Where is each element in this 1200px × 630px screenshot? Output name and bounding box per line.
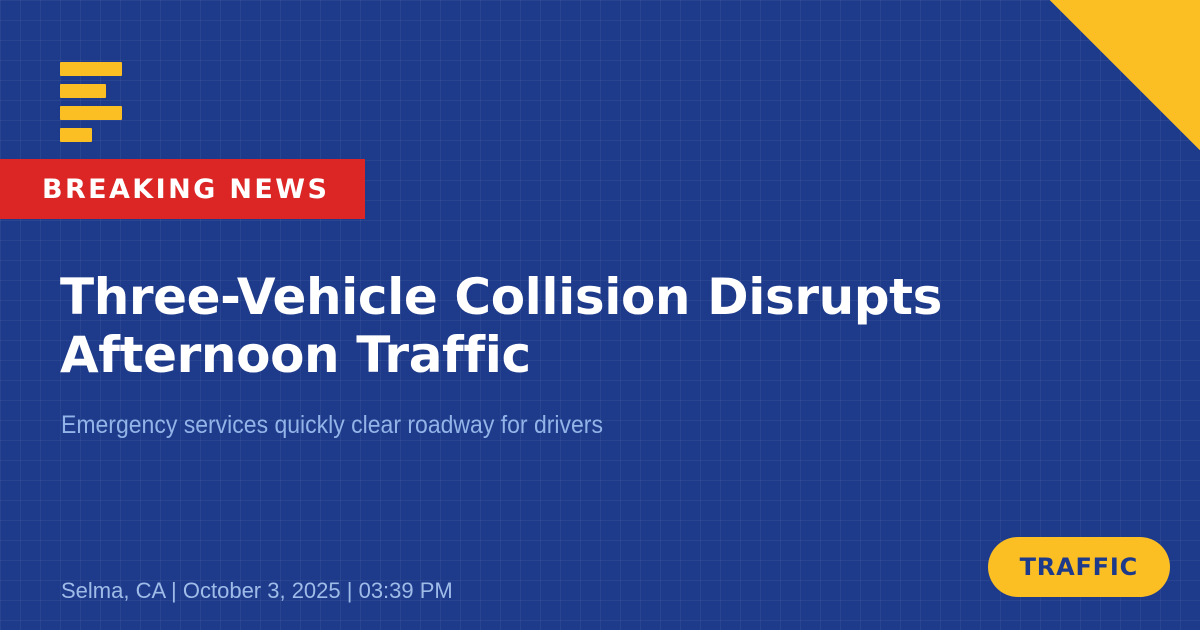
logo-bar-4: [60, 128, 92, 142]
headline: Three-Vehicle Collision Disrupts Afterno…: [60, 268, 990, 385]
news-graphic-card: BREAKING NEWS Three-Vehicle Collision Di…: [0, 0, 1200, 630]
logo-bar-3: [60, 106, 122, 120]
meta-location-date-time: Selma, CA | October 3, 2025 | 03:39 PM: [61, 578, 453, 604]
headline-line-1: Three-Vehicle Collision Disrupts: [60, 268, 990, 327]
category-pill: TRAFFIC: [988, 537, 1170, 597]
logo-bar-1: [60, 62, 122, 76]
brand-logo: [60, 62, 142, 142]
logo-bar-2: [60, 84, 106, 98]
subtitle: Emergency services quickly clear roadway…: [61, 409, 935, 442]
headline-line-2: Afternoon Traffic: [60, 326, 990, 385]
category-pill-label: TRAFFIC: [1020, 555, 1138, 579]
corner-triangle-accent: [1050, 0, 1200, 150]
breaking-news-badge: BREAKING NEWS: [0, 159, 365, 219]
breaking-news-label: BREAKING NEWS: [42, 176, 329, 203]
